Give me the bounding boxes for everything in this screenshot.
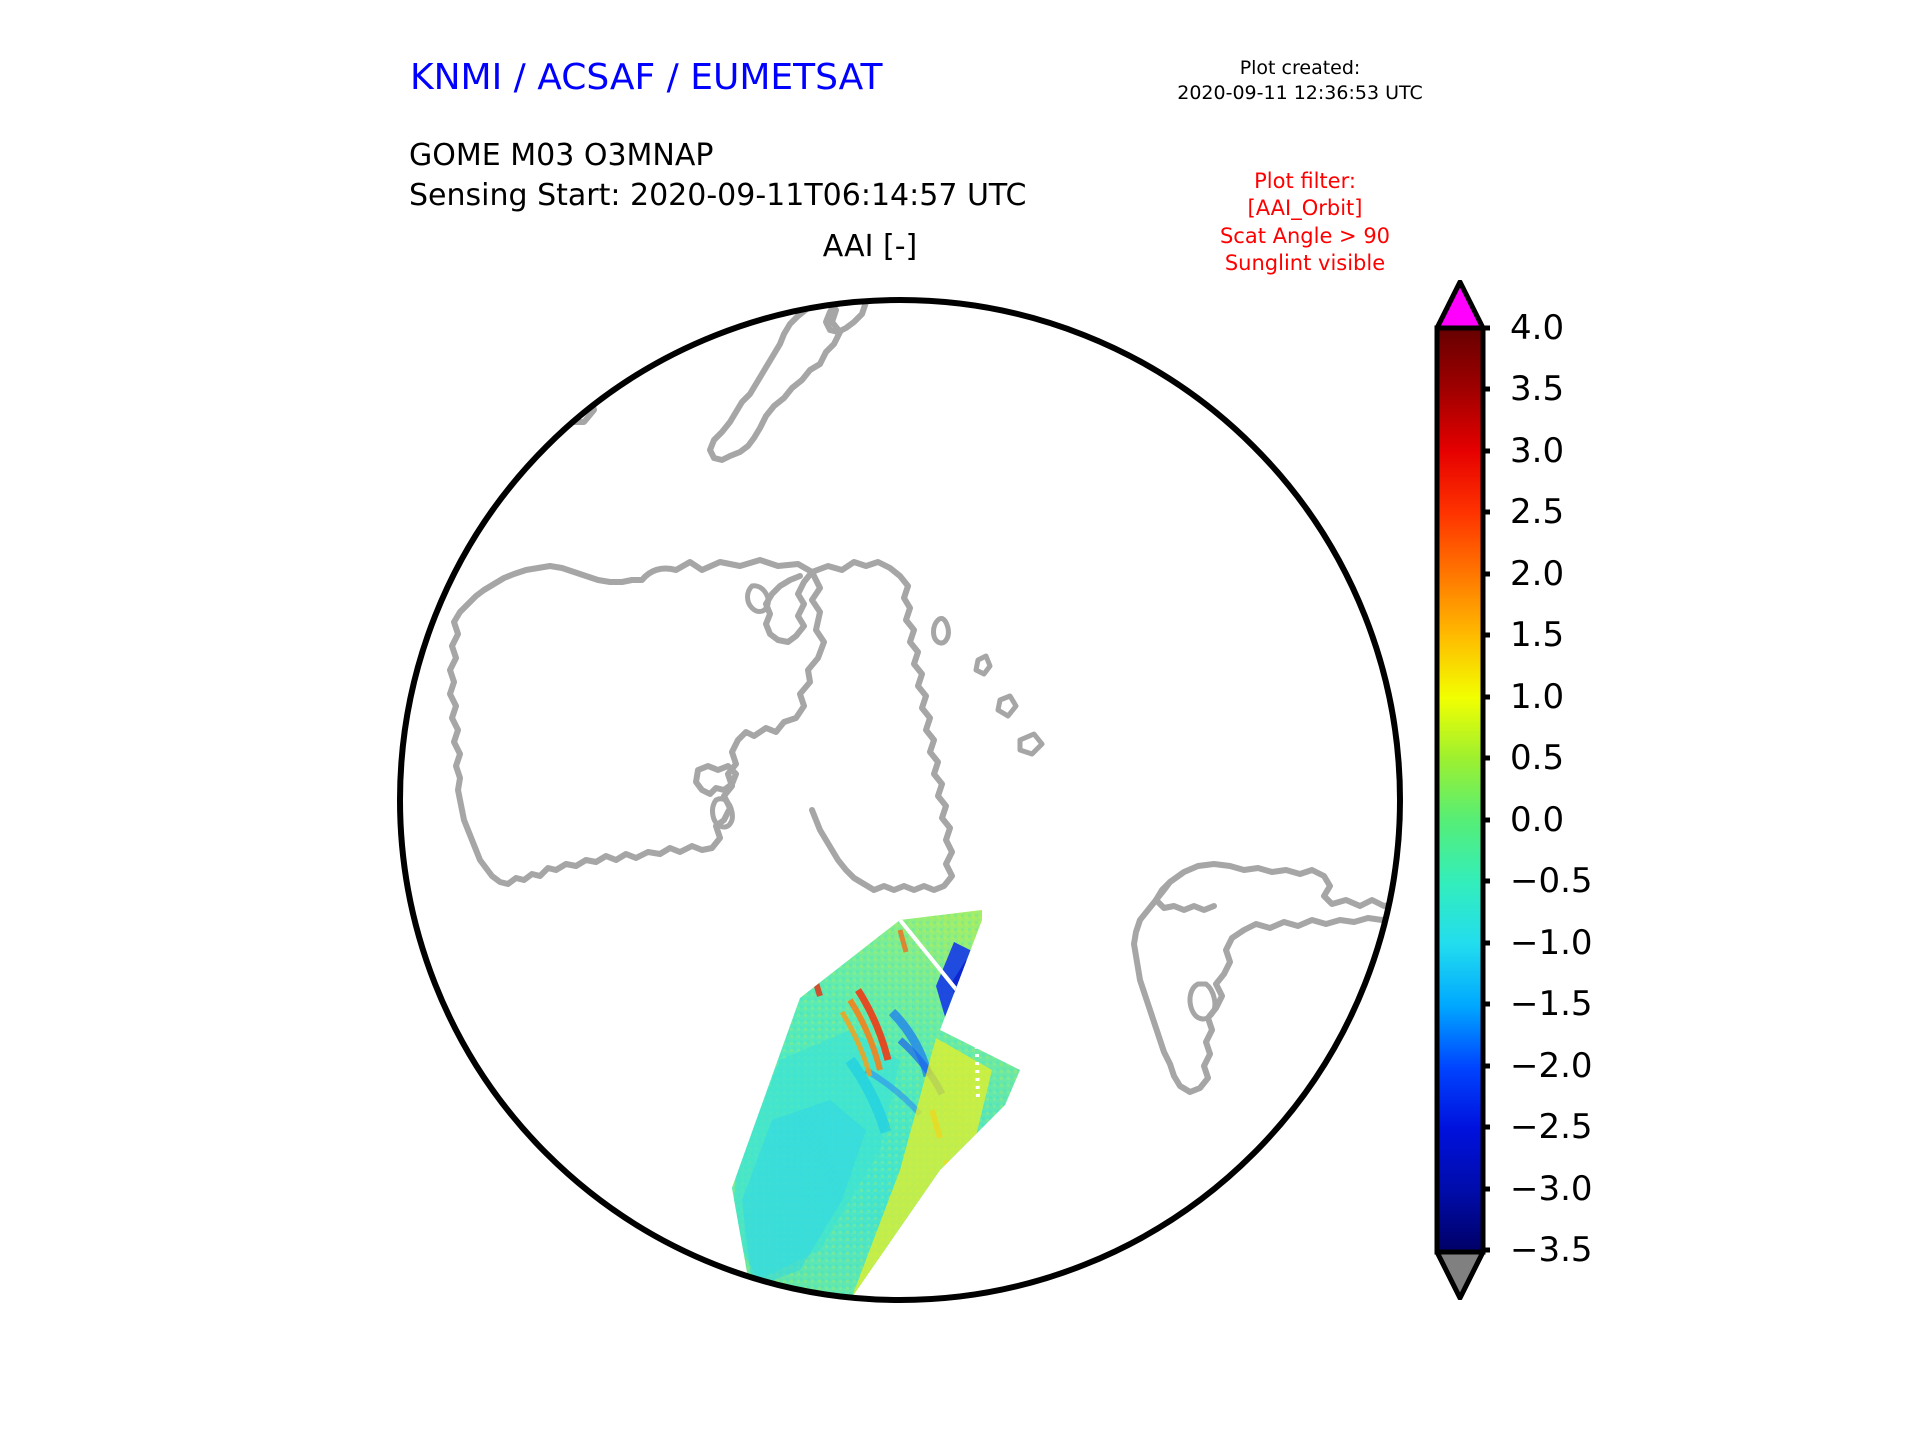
colorbar-gradient <box>1437 328 1483 1252</box>
plot-filter-block: Plot filter: [AAI_Orbit] Scat Angle > 90… <box>1160 168 1450 277</box>
product-info-block: GOME M03 O3MNAP Sensing Start: 2020-09-1… <box>409 136 1026 215</box>
coastline-island-falkland-a <box>526 362 556 384</box>
colorbar-tick-label: −2.0 <box>1510 1046 1593 1086</box>
plot-title: AAI [-] <box>560 229 1180 264</box>
colorbar-tick-label: −1.0 <box>1510 923 1593 963</box>
map-svg <box>380 270 1420 1330</box>
plot-page: KNMI / ACSAF / EUMETSAT Plot created: 20… <box>0 0 1920 1440</box>
colorbar-tick-labels: 4.0 3.5 3.0 2.5 2.0 1.5 1.0 0.5 0.0 −0.5… <box>1510 280 1640 1300</box>
colorbar-tick-label: −3.0 <box>1510 1169 1593 1209</box>
colorbar-tick-label: 1.5 <box>1510 615 1564 655</box>
sensing-start: Sensing Start: 2020-09-11T06:14:57 UTC <box>409 176 1026 216</box>
colorbar-tick-label: 1.0 <box>1510 677 1564 717</box>
colorbar-tick-label: 2.0 <box>1510 554 1564 594</box>
plot-filter-line-0: Plot filter: <box>1160 168 1450 195</box>
colorbar-tick-label: 0.0 <box>1510 800 1564 840</box>
map-panel <box>380 270 1420 1330</box>
plot-created-timestamp: 2020-09-11 12:36:53 UTC <box>1150 81 1450 106</box>
colorbar-tick-label: 2.5 <box>1510 492 1564 532</box>
plot-created-block: Plot created: 2020-09-11 12:36:53 UTC <box>1150 56 1450 106</box>
brand-title: KNMI / ACSAF / EUMETSAT <box>410 57 882 98</box>
colorbar-tick-label: 4.0 <box>1510 308 1564 348</box>
colorbar-tick-label: −0.5 <box>1510 861 1593 901</box>
colorbar-tick-label: 3.5 <box>1510 369 1564 409</box>
colorbar-under-arrow <box>1437 1252 1483 1298</box>
colorbar-tick-label: −1.5 <box>1510 984 1593 1024</box>
colorbar-svg <box>1430 280 1490 1300</box>
colorbar-tick-label: 3.0 <box>1510 431 1564 471</box>
product-name: GOME M03 O3MNAP <box>409 136 1026 176</box>
plot-filter-line-1: [AAI_Orbit] <box>1160 195 1450 222</box>
colorbar-tick-label: −2.5 <box>1510 1107 1593 1147</box>
plot-created-label: Plot created: <box>1150 56 1450 81</box>
plot-filter-line-2: Scat Angle > 90 <box>1160 223 1450 250</box>
colorbar-over-arrow <box>1437 282 1483 328</box>
colorbar-tick-label: −3.5 <box>1510 1230 1593 1270</box>
colorbar <box>1430 280 1490 1300</box>
colorbar-tick-label: 0.5 <box>1510 738 1564 778</box>
